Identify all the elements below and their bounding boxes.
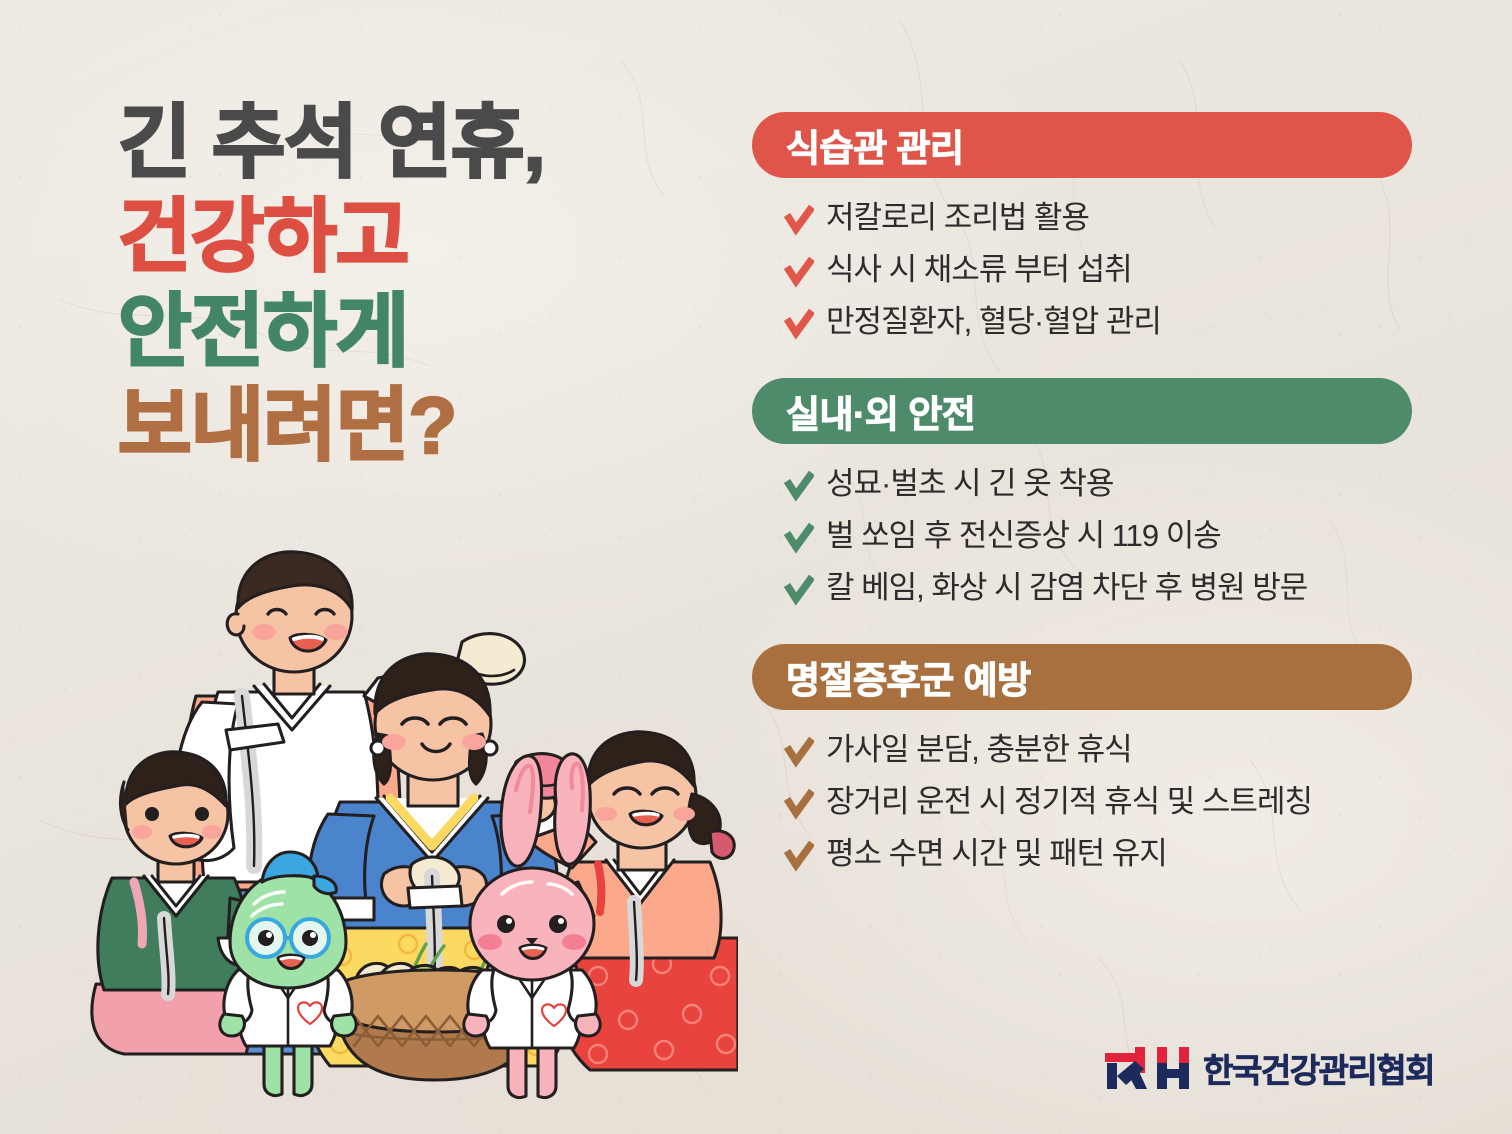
list-item: 식사 시 채소류 부터 섭취 (784, 252, 1412, 290)
check-icon (784, 840, 814, 874)
page-title: 긴 추석 연휴, 건강하고 안전하게 보내려면? (118, 96, 728, 474)
list-item: 저칼로리 조리법 활용 (784, 200, 1412, 238)
check-icon (784, 470, 814, 504)
list-item-label: 벌 쏘임 후 전신증상 시 119 이송 (826, 518, 1221, 555)
headline-line-4: 보내려면? (118, 379, 728, 473)
organization-name: 한국건강관리협회 (1203, 1044, 1434, 1092)
headline-line-3: 안전하게 (118, 285, 728, 379)
list-item-label: 칼 베임, 화상 시 감염 차단 후 병원 방문 (826, 570, 1307, 607)
list-item: 만정질환자, 혈당·혈압 관리 (784, 304, 1412, 342)
list-item-label: 가사일 분담, 충분한 휴식 (826, 732, 1132, 769)
section-title: 식습관 관리 (786, 118, 963, 172)
list-item-label: 저칼로리 조리법 활용 (826, 200, 1089, 237)
list-item-label: 식사 시 채소류 부터 섭취 (826, 252, 1132, 289)
check-icon (784, 522, 814, 556)
bullet-list-holiday-syndrome-prevention: 가사일 분담, 충분한 휴식 장거리 운전 시 정기적 휴식 및 스트레칭 평소… (752, 732, 1412, 874)
kh-logo-mark-icon (1105, 1047, 1191, 1089)
check-icon (784, 574, 814, 608)
check-icon (784, 788, 814, 822)
check-icon (784, 204, 814, 238)
tips-sections: 식습관 관리 저칼로리 조리법 활용 식사 시 채소류 부터 섭취 (752, 112, 1412, 874)
section-header-indoor-outdoor-safety: 실내·외 안전 (752, 378, 1412, 444)
bullet-list-indoor-outdoor-safety: 성묘·벌초 시 긴 옷 착용 벌 쏘임 후 전신증상 시 119 이송 칼 베임… (752, 466, 1412, 608)
list-item: 평소 수면 시간 및 패턴 유지 (784, 836, 1412, 874)
chuseok-family-illustration (78, 546, 738, 1126)
section-diet-management: 식습관 관리 저칼로리 조리법 활용 식사 시 채소류 부터 섭취 (752, 112, 1412, 342)
section-title: 실내·외 안전 (786, 384, 975, 438)
list-item: 벌 쏘임 후 전신증상 시 119 이송 (784, 518, 1412, 556)
list-item-label: 성묘·벌초 시 긴 옷 착용 (826, 466, 1113, 503)
poster-root: 긴 추석 연휴, 건강하고 안전하게 보내려면? (0, 0, 1512, 1134)
organization-logo: 한국건강관리협회 (1105, 1044, 1434, 1092)
headline-line-2: 건강하고 (118, 190, 728, 284)
check-icon (784, 308, 814, 342)
list-item: 성묘·벌초 시 긴 옷 착용 (784, 466, 1412, 504)
list-item: 장거리 운전 시 정기적 휴식 및 스트레칭 (784, 784, 1412, 822)
list-item-label: 장거리 운전 시 정기적 휴식 및 스트레칭 (826, 784, 1312, 821)
check-icon (784, 736, 814, 770)
bullet-list-diet-management: 저칼로리 조리법 활용 식사 시 채소류 부터 섭취 만정질환자, 혈당·혈압 … (752, 200, 1412, 342)
list-item-label: 평소 수면 시간 및 패턴 유지 (826, 836, 1167, 873)
list-item-label: 만정질환자, 혈당·혈압 관리 (826, 304, 1161, 341)
section-holiday-syndrome-prevention: 명절증후군 예방 가사일 분담, 충분한 휴식 장거리 운전 시 정기적 휴식 … (752, 644, 1412, 874)
list-item: 칼 베임, 화상 시 감염 차단 후 병원 방문 (784, 570, 1412, 608)
section-header-holiday-syndrome-prevention: 명절증후군 예방 (752, 644, 1412, 710)
section-header-diet-management: 식습관 관리 (752, 112, 1412, 178)
section-title: 명절증후군 예방 (786, 650, 1031, 704)
check-icon (784, 256, 814, 290)
list-item: 가사일 분담, 충분한 휴식 (784, 732, 1412, 770)
headline-line-1: 긴 추석 연휴, (118, 96, 728, 190)
section-indoor-outdoor-safety: 실내·외 안전 성묘·벌초 시 긴 옷 착용 벌 쏘임 후 전신증상 시 119… (752, 378, 1412, 608)
